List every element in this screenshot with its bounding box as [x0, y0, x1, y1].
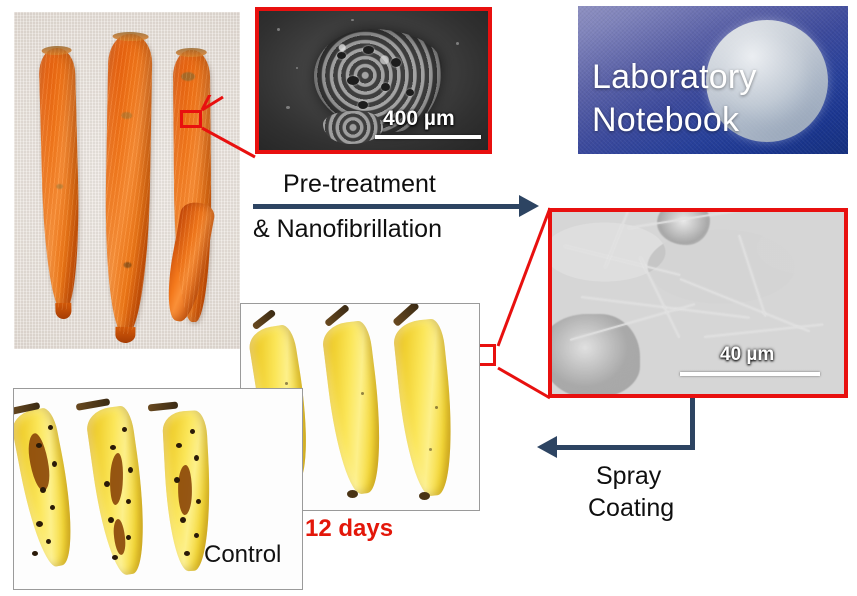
banana-spot — [108, 517, 114, 523]
banana-spot — [190, 429, 195, 434]
coating-label: Coating — [588, 494, 674, 523]
carrot-callout-box — [180, 110, 202, 128]
carrot-blemish — [121, 112, 132, 119]
particle-pore — [391, 58, 401, 67]
banana-spot — [429, 448, 432, 451]
nanofibrillation-label: & Nanofibrillation — [253, 215, 442, 244]
sem-carrot-particle-panel: 400 µm — [255, 7, 492, 154]
scale-bar-40um — [680, 372, 820, 376]
sem-speck — [296, 67, 298, 69]
banana-spot — [36, 443, 42, 448]
carrot-blemish — [124, 262, 132, 268]
banana-spot — [361, 392, 364, 395]
carrot-blemish — [57, 184, 64, 189]
sem-speck — [277, 28, 280, 31]
banana-to-sem-leader — [468, 200, 560, 415]
carrot-crown — [176, 48, 207, 57]
banana-spot — [46, 539, 51, 544]
banana-spot — [40, 487, 46, 493]
particle-pore — [406, 89, 414, 96]
notebook-title-line-2: Notebook — [592, 101, 739, 140]
banana-spot — [174, 477, 180, 483]
banana-spot — [128, 467, 133, 473]
scale-bar-400um — [375, 135, 481, 139]
banana-spot — [52, 461, 57, 467]
notebook-title-line-1: Laboratory — [592, 58, 757, 97]
scale-bar-label-400um: 400 µm — [383, 107, 455, 131]
particle-pore — [347, 76, 359, 85]
carrot-3 — [173, 50, 212, 322]
fibril-clump — [548, 314, 640, 398]
control-banana-2 — [96, 407, 142, 575]
particle-pore — [337, 52, 346, 59]
carrot-particle-foot — [323, 111, 383, 144]
banana-body — [13, 406, 83, 569]
graphical-abstract-figure: 400 µm Pre-treatment & Nanofibrillation … — [0, 0, 857, 596]
particle-pore — [358, 101, 368, 109]
spray-coating-arrow-vertical — [690, 398, 695, 450]
banana-spot — [184, 551, 190, 556]
particle-pore — [381, 83, 390, 91]
banana-spot — [180, 517, 186, 523]
sem-speck — [351, 19, 354, 21]
banana-spot — [194, 455, 199, 461]
carrot-crown — [41, 46, 71, 56]
banana-spot — [36, 521, 43, 527]
coated-banana-3 — [401, 320, 451, 496]
banana-body — [392, 318, 460, 498]
carrot-blemish — [181, 72, 195, 81]
banana-stem — [148, 401, 179, 411]
banana-spot — [126, 499, 131, 504]
pre-treatment-arrow-shaft — [253, 204, 521, 209]
banana-spot — [50, 505, 55, 510]
spray-coating-arrow-head — [537, 436, 557, 458]
banana-spot — [104, 481, 110, 487]
banana-spot — [435, 406, 438, 409]
carrot-crown — [112, 32, 149, 42]
control-banana-panel: Control — [13, 388, 303, 590]
banana-spot — [126, 535, 131, 540]
banana-spot — [48, 425, 53, 430]
coated-banana-2 — [331, 322, 379, 494]
sem-speck — [286, 106, 290, 109]
banana-spot — [32, 551, 38, 556]
pre-treatment-label: Pre-treatment — [283, 170, 436, 199]
spray-coating-arrow-horizontal — [557, 445, 695, 450]
control-caption: Control — [204, 541, 281, 569]
sem-nanofibril-panel: 40 µm — [548, 208, 848, 398]
particle-pore — [363, 46, 374, 54]
banana-spot — [122, 427, 127, 432]
scale-bar-label-40um: 40 µm — [720, 344, 774, 366]
laboratory-notebook-panel: Laboratory Notebook — [578, 6, 848, 154]
banana-tip — [419, 492, 430, 500]
carrot-photo-panel — [14, 12, 240, 349]
spray-label: Spray — [596, 462, 661, 491]
banana-spot — [110, 445, 116, 450]
banana-spot — [196, 499, 201, 504]
pre-treatment-arrow-head — [519, 195, 539, 217]
days-caption: 12 days — [305, 515, 393, 543]
sem-speck — [456, 42, 459, 45]
banana-body — [321, 320, 390, 497]
banana-spot — [112, 555, 118, 560]
banana-spot — [194, 533, 199, 538]
banana-spot — [176, 443, 182, 448]
banana-tip — [347, 490, 358, 498]
carrot-tip — [116, 327, 136, 343]
control-banana-1 — [24, 409, 68, 567]
banana-spot — [285, 382, 288, 385]
